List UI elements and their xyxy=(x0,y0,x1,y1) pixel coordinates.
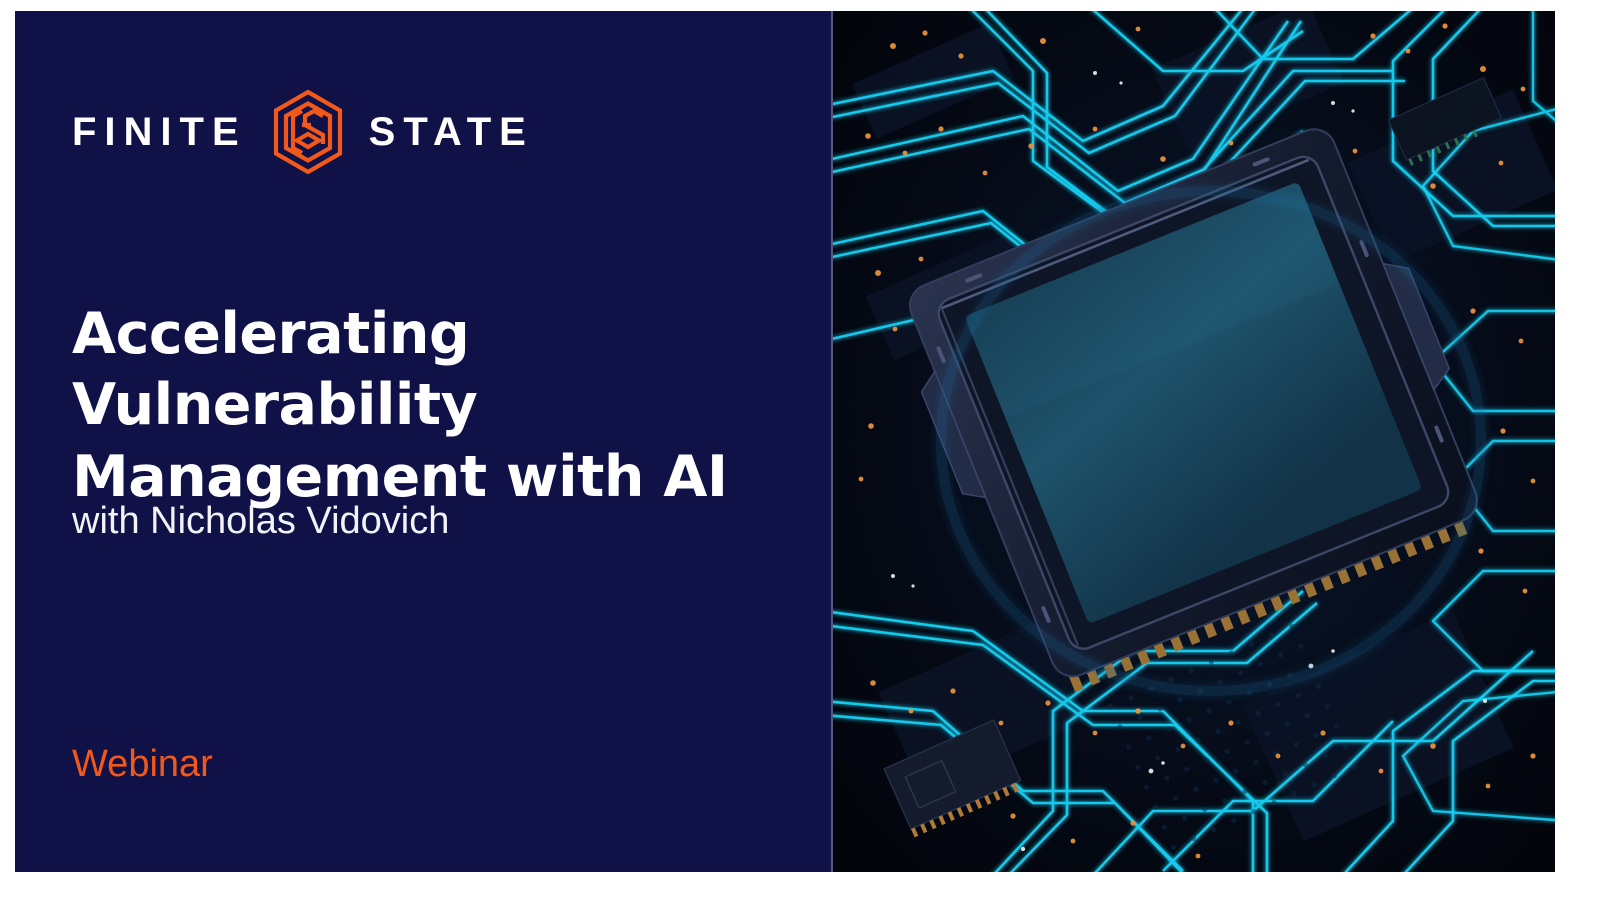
finite-state-hexagon-logo-icon xyxy=(271,89,345,175)
content-type-label: Webinar xyxy=(72,742,213,788)
page-title: Accelerating Vulnerability Management wi… xyxy=(72,299,802,513)
webinar-slide: FINITE STATE xyxy=(15,11,1555,872)
left-text-panel: FINITE STATE xyxy=(15,11,833,872)
circuit-board-image xyxy=(833,11,1555,872)
presenter-subtitle: with Nicholas Vidovich xyxy=(72,499,449,545)
circuit-board-illustration-icon xyxy=(833,11,1555,872)
brand-wordmark-state: STATE xyxy=(369,112,534,152)
brand-wordmark-finite: FINITE xyxy=(72,112,247,152)
brand-logo-lockup: FINITE STATE xyxy=(72,89,534,175)
